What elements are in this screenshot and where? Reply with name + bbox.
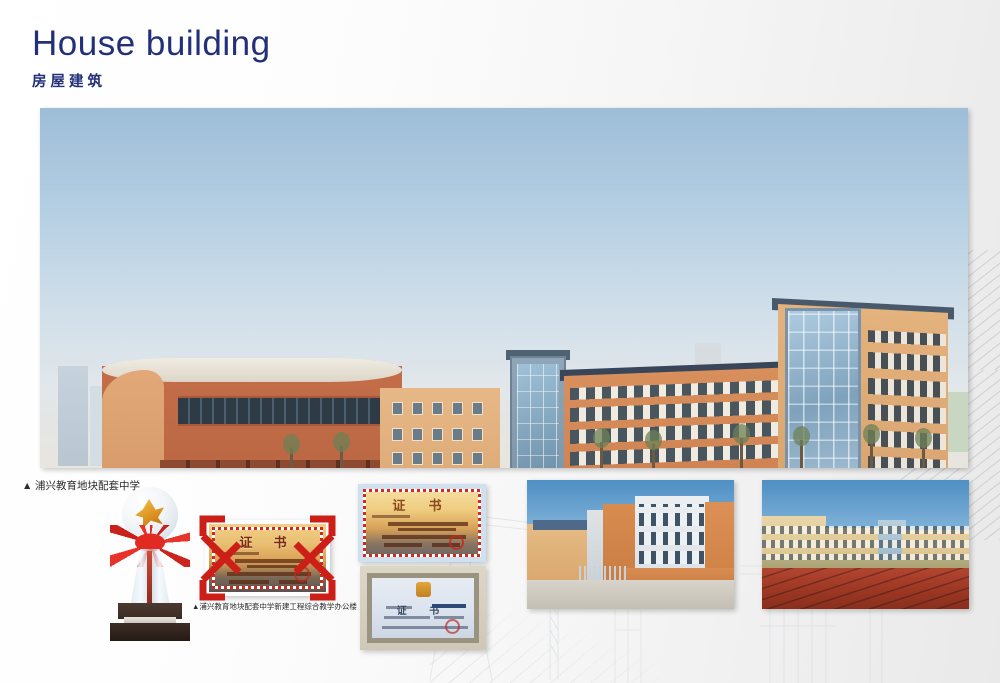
- teaching-building-windows: [868, 330, 946, 468]
- school-entrance-photo: [527, 480, 734, 609]
- page-title-cn: 房屋建筑: [32, 70, 271, 91]
- gymnasium-ground-floor: [160, 460, 402, 468]
- crystal-award-trophy: [100, 487, 198, 645]
- gymnasium-end-wall: [102, 370, 164, 468]
- honor-certificate-silver: 证 书: [360, 566, 486, 650]
- hero-campus-photo: [40, 108, 968, 468]
- gymnasium-clerestory-windows: [178, 396, 398, 426]
- certificate-heading: 证 书: [205, 532, 330, 551]
- certificate-heading: 证 书: [358, 495, 486, 514]
- certificate-heading: 证 书: [360, 602, 486, 617]
- distant-highrise: [58, 366, 88, 466]
- school-sportsfield-photo: [762, 480, 969, 609]
- page-header: House building 房屋建筑: [32, 26, 271, 91]
- quality-certificate-gold: 证 书: [358, 484, 486, 562]
- mid-classroom-block: [380, 388, 500, 468]
- award-certificate-red-frame: 证 书: [205, 520, 330, 596]
- stair-tower: [510, 356, 566, 468]
- page-title-en: House building: [32, 26, 271, 63]
- award-caption: ▲浦兴教育地块配套中学新建工程综合教学办公楼: [192, 601, 357, 612]
